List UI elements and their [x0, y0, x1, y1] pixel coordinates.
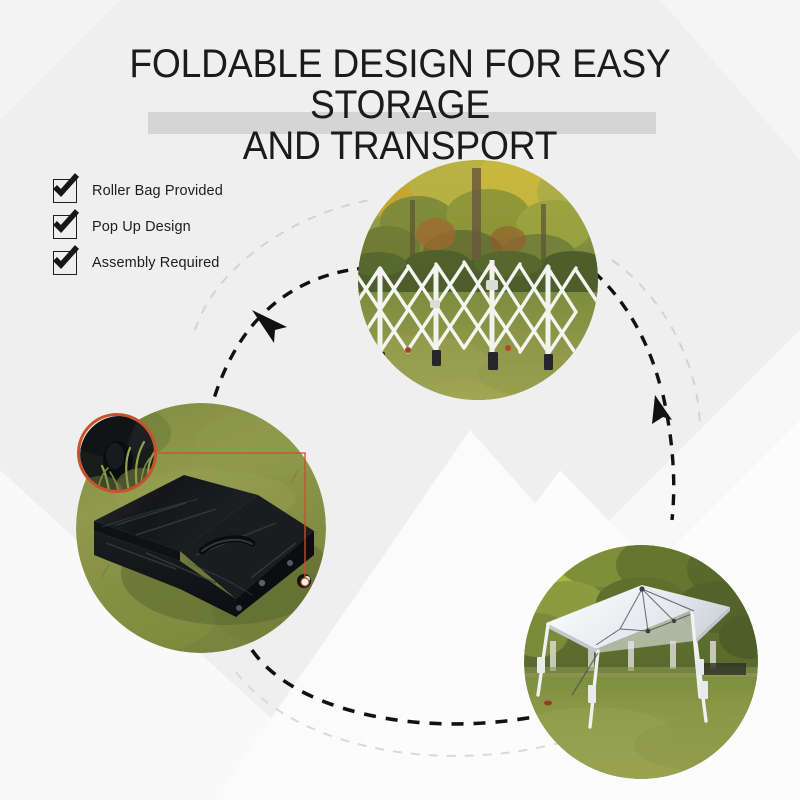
photo-assembled-canopy-image: [524, 545, 758, 779]
photo-folded-frame-image: [358, 160, 598, 400]
checkbox-checked-icon: [53, 215, 77, 239]
checkbox-checked-icon: [53, 179, 77, 203]
detail-inset-wheel: [77, 413, 157, 493]
feature-label: Assembly Required: [92, 255, 219, 271]
infographic-page: FOLDABLE DESIGN FOR EASY STORAGE AND TRA…: [0, 0, 800, 800]
feature-item-pop-up-design: Pop Up Design: [53, 211, 313, 243]
photo-folded-frame: [358, 160, 598, 400]
feature-label: Pop Up Design: [92, 219, 191, 235]
feature-checklist: Roller Bag Provided Pop Up Design Assemb…: [53, 175, 313, 283]
feature-item-assembly-required: Assembly Required: [53, 247, 313, 279]
checkbox-checked-icon: [53, 251, 77, 275]
feature-label: Roller Bag Provided: [92, 183, 223, 199]
page-title: FOLDABLE DESIGN FOR EASY STORAGE AND TRA…: [65, 44, 735, 167]
feature-item-roller-bag: Roller Bag Provided: [53, 175, 313, 207]
photo-assembled-canopy: [524, 545, 758, 779]
